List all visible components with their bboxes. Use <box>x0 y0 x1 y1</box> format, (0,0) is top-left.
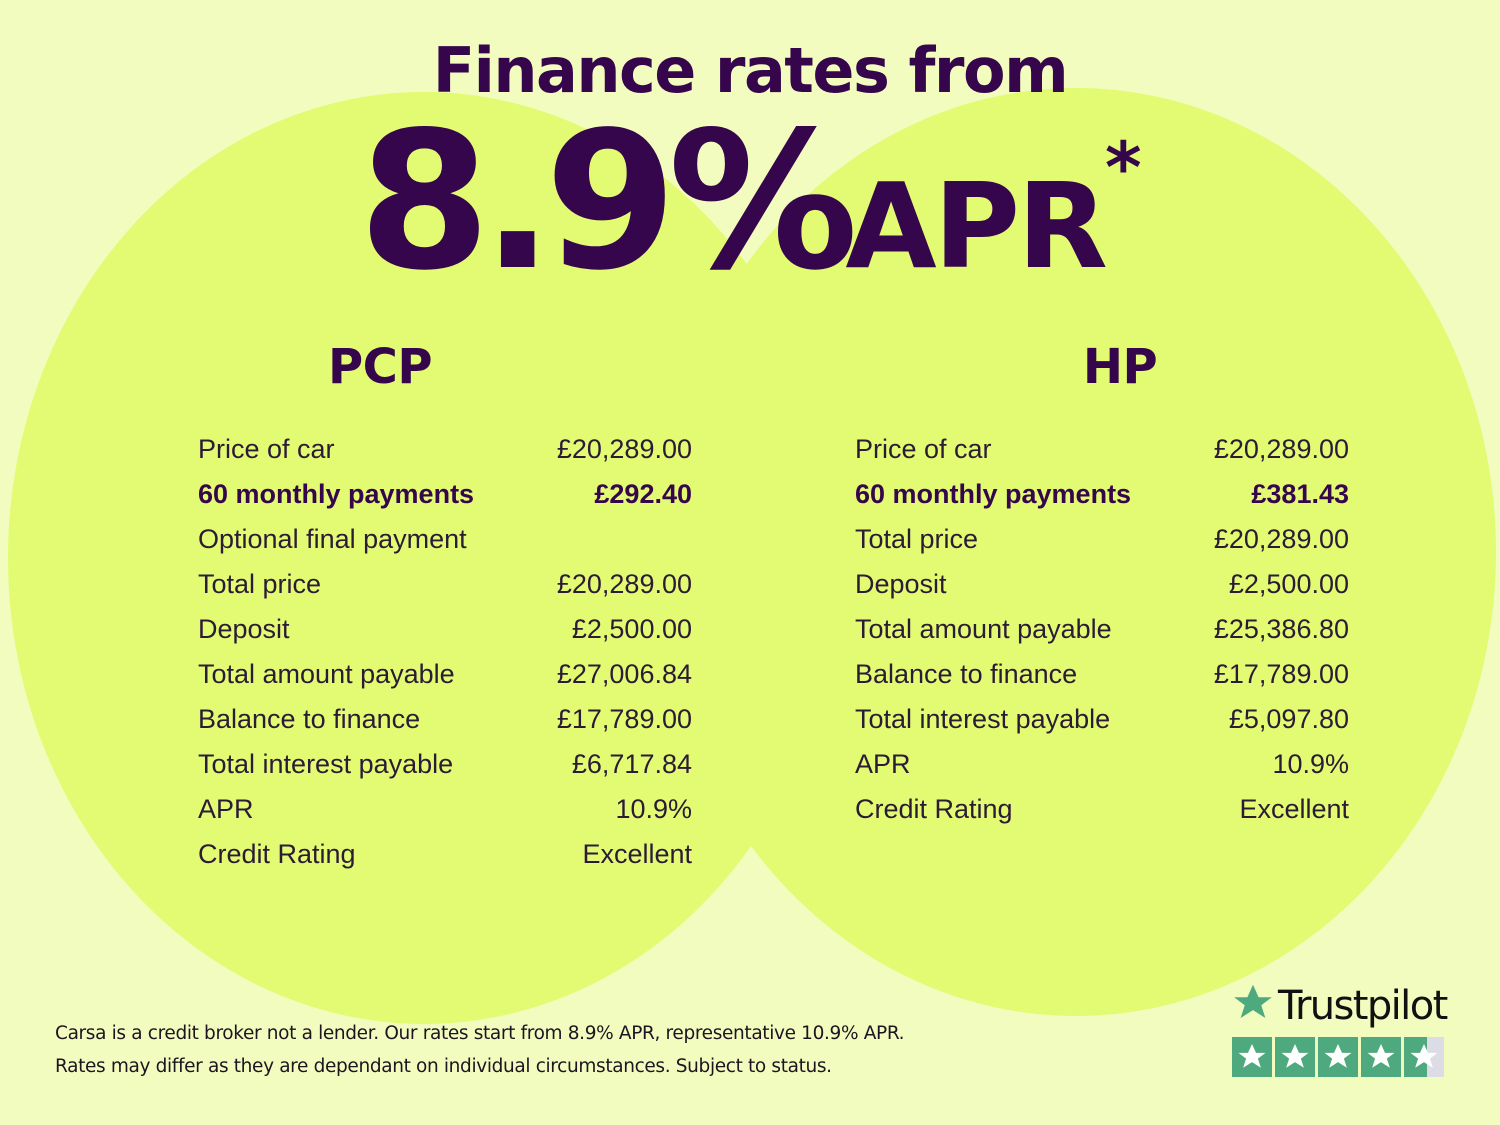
plan-row-value: £27,006.84 <box>557 652 692 697</box>
trustpilot-star-icon <box>1232 982 1274 1029</box>
plan-row-label: Total amount payable <box>198 652 455 697</box>
plan-row-label: Total amount payable <box>855 607 1112 652</box>
plan-row-label: Total price <box>198 562 321 607</box>
plan-column-hp: HP Price of car£20,289.0060 monthly paym… <box>750 339 1490 877</box>
trustpilot-star-3 <box>1318 1037 1358 1077</box>
plan-row-value: £2,500.00 <box>572 607 692 652</box>
plan-row: Total amount payable£27,006.84 <box>198 652 692 697</box>
plan-row: Total interest payable£6,717.84 <box>198 742 692 787</box>
plan-row: Credit RatingExcellent <box>855 787 1349 832</box>
trustpilot-star-2 <box>1275 1037 1315 1077</box>
plan-row: Deposit£2,500.00 <box>855 562 1349 607</box>
headline-apr-label: APR <box>845 167 1105 285</box>
plan-row-value: £20,289.00 <box>1214 427 1349 472</box>
plan-row-label: APR <box>855 742 911 787</box>
plan-row-label: Credit Rating <box>198 832 356 877</box>
plan-row: Total price£20,289.00 <box>198 562 692 607</box>
finance-rates-card: Finance rates from 8.9% APR * PCP Price … <box>0 0 1500 1125</box>
plan-row-value: £25,386.80 <box>1214 607 1349 652</box>
plan-row-label: 60 monthly payments <box>198 472 474 517</box>
disclaimer-line-2: Rates may differ as they are dependant o… <box>55 1051 875 1083</box>
plan-row-value: £17,789.00 <box>1214 652 1349 697</box>
plan-row-label: APR <box>198 787 254 832</box>
plan-row-label: Balance to finance <box>855 652 1077 697</box>
plan-row: APR10.9% <box>855 742 1349 787</box>
plan-row-label: Deposit <box>855 562 947 607</box>
plan-row-label: Price of car <box>198 427 335 472</box>
plan-row: Price of car£20,289.00 <box>198 427 692 472</box>
trustpilot-star-4 <box>1361 1037 1401 1077</box>
plan-row: APR10.9% <box>198 787 692 832</box>
plan-row-label: Deposit <box>198 607 290 652</box>
plan-column-pcp: PCP Price of car£20,289.0060 monthly pay… <box>10 339 750 877</box>
plan-row: Deposit£2,500.00 <box>198 607 692 652</box>
plan-row: Optional final payment <box>198 517 692 562</box>
plan-row-value: £6,717.84 <box>572 742 692 787</box>
plan-row-value: Excellent <box>1239 787 1349 832</box>
disclaimer: Carsa is a credit broker not a lender. O… <box>55 1018 875 1083</box>
plan-title-hp: HP <box>760 339 1480 395</box>
plan-row: 60 monthly payments£381.43 <box>855 472 1349 517</box>
trustpilot-star-1 <box>1232 1037 1272 1077</box>
disclaimer-line-1: Carsa is a credit broker not a lender. O… <box>55 1018 875 1050</box>
plan-row-value: £2,500.00 <box>1229 562 1349 607</box>
trustpilot-badge[interactable]: Trustpilot <box>1232 982 1448 1077</box>
plan-row-value: Excellent <box>582 832 692 877</box>
hero-section: Finance rates from 8.9% APR * <box>0 0 1500 297</box>
plan-row-value: £20,289.00 <box>557 562 692 607</box>
plan-row-value: 10.9% <box>1272 742 1349 787</box>
trustpilot-star-rating <box>1232 1037 1448 1077</box>
plan-row-label: Credit Rating <box>855 787 1013 832</box>
plan-row: Total amount payable£25,386.80 <box>855 607 1349 652</box>
headline-asterisk: * <box>1105 133 1142 203</box>
plan-row: 60 monthly payments£292.40 <box>198 472 692 517</box>
headline-rate-value: 8.9% <box>358 107 849 297</box>
finance-plans-comparison: PCP Price of car£20,289.0060 monthly pay… <box>0 339 1500 877</box>
plan-row-value: £20,289.00 <box>1214 517 1349 562</box>
plan-row-label: Total price <box>855 517 978 562</box>
trustpilot-star-5 <box>1404 1037 1444 1077</box>
trustpilot-name: Trustpilot <box>1278 983 1447 1029</box>
plan-row-value: £17,789.00 <box>557 697 692 742</box>
plan-row-label: Price of car <box>855 427 992 472</box>
plan-row-value: £5,097.80 <box>1229 697 1349 742</box>
plan-table-pcp: Price of car£20,289.0060 monthly payment… <box>198 427 692 877</box>
plan-row-value: £381.43 <box>1251 472 1349 517</box>
page-title: Finance rates from <box>0 0 1500 103</box>
plan-row-value: £20,289.00 <box>557 427 692 472</box>
plan-row-value: 10.9% <box>615 787 692 832</box>
plan-row: Total price£20,289.00 <box>855 517 1349 562</box>
plan-row-label: Balance to finance <box>198 697 420 742</box>
plan-row-label: Total interest payable <box>198 742 453 787</box>
plan-row: Balance to finance£17,789.00 <box>198 697 692 742</box>
plan-row-label: 60 monthly payments <box>855 472 1131 517</box>
plan-row: Balance to finance£17,789.00 <box>855 652 1349 697</box>
plan-row: Total interest payable£5,097.80 <box>855 697 1349 742</box>
trustpilot-wordmark: Trustpilot <box>1232 982 1448 1029</box>
plan-row: Credit RatingExcellent <box>198 832 692 877</box>
plan-row-label: Total interest payable <box>855 697 1110 742</box>
plan-row: Price of car£20,289.00 <box>855 427 1349 472</box>
plan-table-hp: Price of car£20,289.0060 monthly payment… <box>855 427 1349 832</box>
plan-row-value: £292.40 <box>594 472 692 517</box>
plan-row-label: Optional final payment <box>198 517 467 562</box>
plan-title-pcp: PCP <box>20 339 740 395</box>
headline-rate: 8.9% APR * <box>0 107 1500 297</box>
